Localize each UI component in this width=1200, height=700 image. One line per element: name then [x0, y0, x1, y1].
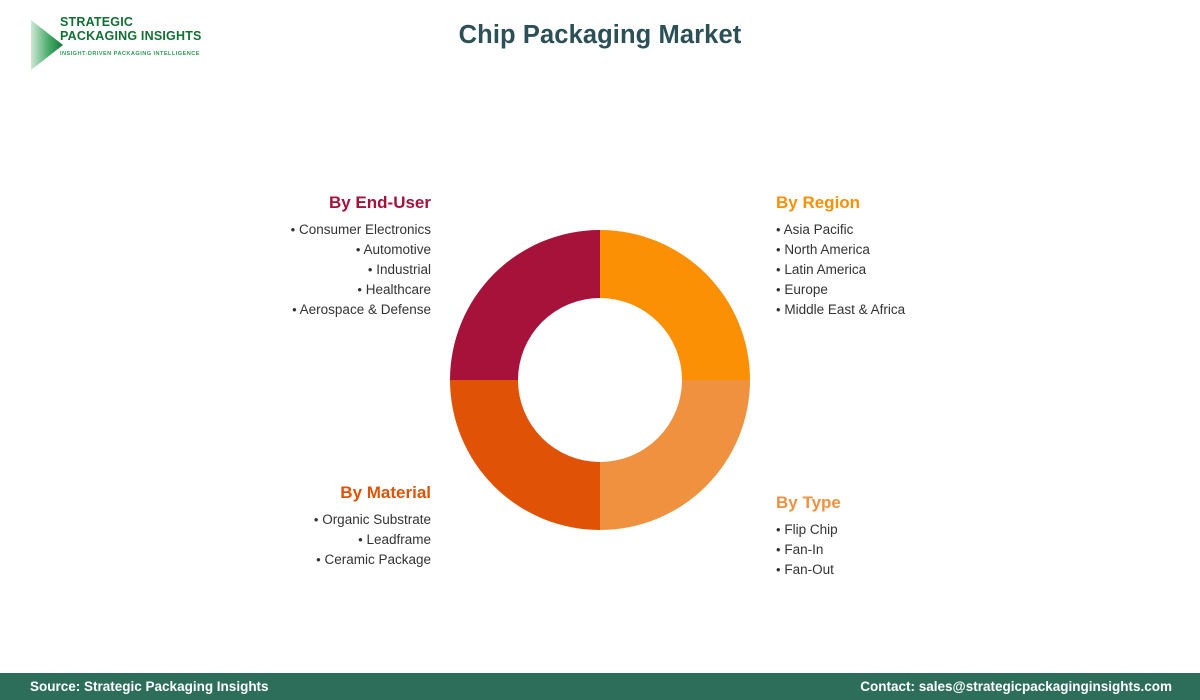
- list-item: • Fan-Out: [776, 560, 1036, 580]
- segment-type-title: By Type: [776, 493, 1036, 513]
- bullet-icon: •: [356, 242, 361, 257]
- segment-type-list: • Flip Chip • Fan-In • Fan-Out: [776, 520, 1036, 580]
- page-title: Chip Packaging Market: [0, 21, 1200, 50]
- list-item-label: Automotive: [363, 242, 431, 257]
- bullet-icon: •: [776, 542, 781, 557]
- donut-slice-region: [600, 230, 750, 380]
- segment-region-list: • Asia Pacific • North America • Latin A…: [776, 220, 1036, 320]
- list-item-label: Asia Pacific: [784, 222, 854, 237]
- list-item-label: Fan-Out: [784, 562, 834, 577]
- bullet-icon: •: [776, 562, 781, 577]
- bullet-icon: •: [776, 302, 781, 317]
- list-item: • Middle East & Africa: [776, 300, 1036, 320]
- segment-end-user-title: By End-User: [180, 193, 431, 213]
- list-item-label: Europe: [784, 282, 828, 297]
- segment-type: By Type • Flip Chip • Fan-In • Fan-Out: [776, 493, 1036, 580]
- list-item: • Europe: [776, 280, 1036, 300]
- segment-material: By Material • Organic Substrate • Leadfr…: [180, 483, 431, 570]
- list-item-label: Fan-In: [784, 542, 823, 557]
- list-item: • Healthcare: [180, 280, 431, 300]
- list-item: • Asia Pacific: [776, 220, 1036, 240]
- bullet-icon: •: [358, 532, 363, 547]
- bullet-icon: •: [368, 262, 373, 277]
- segment-region-title: By Region: [776, 193, 1036, 213]
- donut-chart-svg: [450, 230, 750, 530]
- brand-tagline: INSIGHT-DRIVEN PACKAGING INTELLIGENCE: [60, 51, 230, 57]
- donut-slice-end-user: [450, 230, 600, 380]
- list-item-label: North America: [784, 242, 870, 257]
- list-item: • Automotive: [180, 240, 431, 260]
- list-item: • Ceramic Package: [180, 550, 431, 570]
- list-item: • Fan-In: [776, 540, 1036, 560]
- donut-chart: [450, 230, 750, 530]
- bullet-icon: •: [357, 282, 362, 297]
- list-item: • Leadframe: [180, 530, 431, 550]
- donut-slice-type: [600, 380, 750, 530]
- list-item-label: Flip Chip: [784, 522, 837, 537]
- list-item: • Consumer Electronics: [180, 220, 431, 240]
- list-item-label: Industrial: [376, 262, 431, 277]
- list-item: • North America: [776, 240, 1036, 260]
- bullet-icon: •: [776, 522, 781, 537]
- segment-region: By Region • Asia Pacific • North America…: [776, 193, 1036, 320]
- bullet-icon: •: [316, 552, 321, 567]
- list-item-label: Aerospace & Defense: [300, 302, 431, 317]
- bullet-icon: •: [776, 282, 781, 297]
- list-item-label: Organic Substrate: [322, 512, 431, 527]
- footer-bar: Source: Strategic Packaging Insights Con…: [0, 673, 1200, 700]
- list-item: • Aerospace & Defense: [180, 300, 431, 320]
- bullet-icon: •: [291, 222, 296, 237]
- donut-slice-material: [450, 380, 600, 530]
- list-item-label: Latin America: [784, 262, 866, 277]
- segment-material-list: • Organic Substrate • Leadframe • Cerami…: [180, 510, 431, 570]
- list-item-label: Leadframe: [366, 532, 431, 547]
- list-item-label: Consumer Electronics: [299, 222, 431, 237]
- list-item: • Flip Chip: [776, 520, 1036, 540]
- footer-contact: Contact: sales@strategicpackaginginsight…: [860, 679, 1172, 694]
- list-item-label: Middle East & Africa: [784, 302, 905, 317]
- segment-material-title: By Material: [180, 483, 431, 503]
- segment-end-user-list: • Consumer Electronics • Automotive • In…: [180, 220, 431, 320]
- list-item: • Latin America: [776, 260, 1036, 280]
- list-item: • Industrial: [180, 260, 431, 280]
- bullet-icon: •: [314, 512, 319, 527]
- bullet-icon: •: [776, 262, 781, 277]
- list-item: • Organic Substrate: [180, 510, 431, 530]
- segment-end-user: By End-User • Consumer Electronics • Aut…: [180, 193, 431, 320]
- bullet-icon: •: [776, 242, 781, 257]
- bullet-icon: •: [776, 222, 781, 237]
- footer-source: Source: Strategic Packaging Insights: [30, 679, 269, 694]
- list-item-label: Ceramic Package: [324, 552, 431, 567]
- list-item-label: Healthcare: [366, 282, 431, 297]
- bullet-icon: •: [292, 302, 297, 317]
